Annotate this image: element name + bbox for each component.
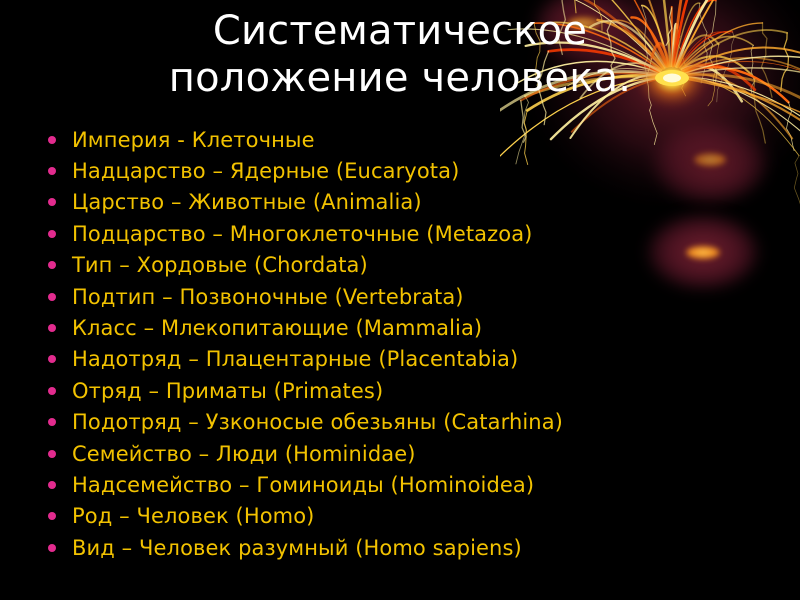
list-item-label: Подотряд – Узконосые обезьяны (Catarhina…: [72, 410, 563, 434]
firework-spark-tail: [794, 156, 800, 222]
bullet-dot-icon: [48, 324, 56, 332]
bullet-dot-icon: [48, 355, 56, 363]
list-item-label: Империя - Клеточные: [72, 128, 315, 152]
firework-spark-tail: [787, 102, 795, 150]
list-item-label: Царство – Животные (Animalia): [72, 190, 422, 214]
list-item-label: Надотряд – Плацентарные (Placentabia): [72, 347, 518, 371]
list-item-label: Надсемейство – Гоминоиды (Hominoidea): [72, 473, 534, 497]
bullet-dot-icon: [48, 167, 56, 175]
list-item: Подцарство – Многоклеточные (Metazoa): [38, 218, 758, 249]
list-item: Надцарство – Ядерные (Eucaryota): [38, 155, 758, 186]
list-item: Тип – Хордовые (Chordata): [38, 250, 758, 281]
list-item-label: Тип – Хордовые (Chordata): [72, 253, 368, 277]
presentation-slide: Систематическое положение человека. Импе…: [0, 0, 800, 600]
page-title: Систематическое положение человека.: [0, 8, 800, 102]
list-item-label: Вид – Человек разумный (Homo sapiens): [72, 536, 522, 560]
bullet-dot-icon: [48, 198, 56, 206]
bullet-dot-icon: [48, 293, 56, 301]
taxonomy-rank-list: Империя - КлеточныеНадцарство – Ядерные …: [38, 124, 758, 563]
bullet-dot-icon: [48, 261, 56, 269]
bullet-dot-icon: [48, 387, 56, 395]
list-item-label: Класс – Млекопитающие (Mammalia): [72, 316, 482, 340]
list-item: Вид – Человек разумный (Homo sapiens): [38, 532, 758, 563]
bullet-dot-icon: [48, 230, 56, 238]
list-item: Надсемейство – Гоминоиды (Hominoidea): [38, 469, 758, 500]
bullet-dot-icon: [48, 418, 56, 426]
list-item: Подтип – Позвоночные (Vertebrata): [38, 281, 758, 312]
list-item: Род – Человек (Homo): [38, 501, 758, 532]
list-item-label: Надцарство – Ядерные (Eucaryota): [72, 159, 459, 183]
title-line-1: Систематическое: [0, 8, 800, 55]
bullet-dot-icon: [48, 481, 56, 489]
list-item: Семейство – Люди (Hominidae): [38, 438, 758, 469]
list-item: Класс – Млекопитающие (Mammalia): [38, 312, 758, 343]
list-item-label: Подцарство – Многоклеточные (Metazoa): [72, 222, 532, 246]
list-item-label: Отряд – Приматы (Primates): [72, 379, 383, 403]
list-item: Империя - Клеточные: [38, 124, 758, 155]
list-item-label: Род – Человек (Homo): [72, 504, 314, 528]
bullet-dot-icon: [48, 544, 56, 552]
list-item: Царство – Животные (Animalia): [38, 187, 758, 218]
list-item-label: Подтип – Позвоночные (Vertebrata): [72, 285, 464, 309]
bullet-dot-icon: [48, 136, 56, 144]
bullet-dot-icon: [48, 512, 56, 520]
title-line-2: положение человека.: [0, 55, 800, 102]
list-item: Подотряд – Узконосые обезьяны (Catarhina…: [38, 407, 758, 438]
bullet-dot-icon: [48, 450, 56, 458]
list-item-label: Семейство – Люди (Hominidae): [72, 442, 416, 466]
list-item: Надотряд – Плацентарные (Placentabia): [38, 344, 758, 375]
list-item: Отряд – Приматы (Primates): [38, 375, 758, 406]
